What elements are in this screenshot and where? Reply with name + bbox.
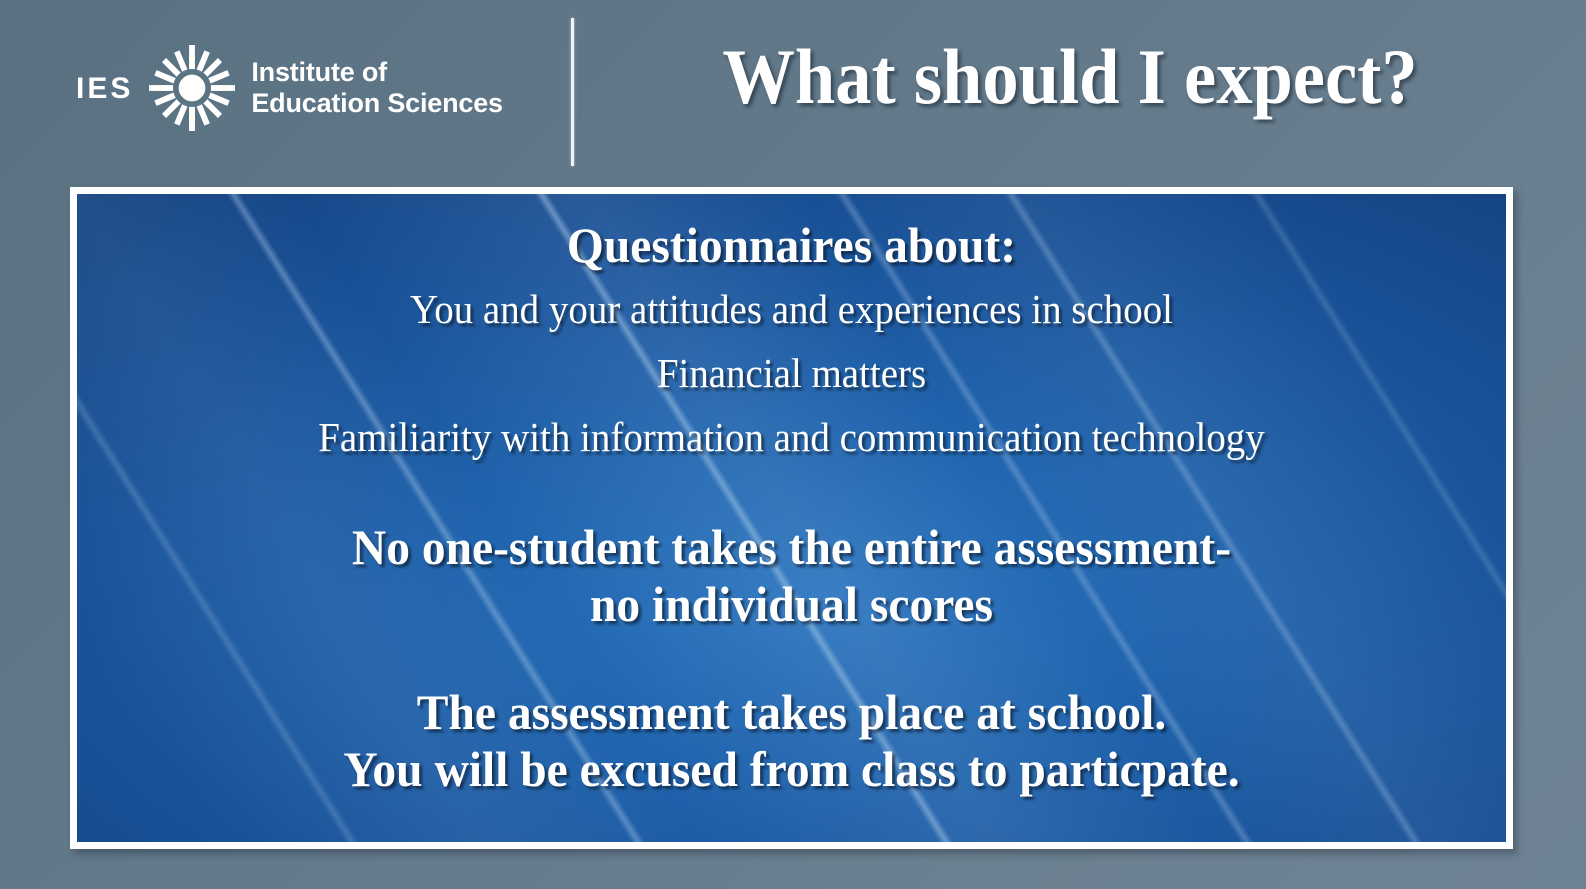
statement-no-individual-scores: No one-student takes the entire assessme…	[113, 519, 1471, 633]
topic-item: Financial matters	[113, 353, 1471, 394]
slide-header: IES	[0, 0, 1586, 185]
statement-line: You will be excused from class to partic…	[113, 741, 1471, 798]
content-panel-frame: Questionnaires about: You and your attit…	[70, 187, 1513, 849]
ies-acronym: IES	[76, 74, 133, 104]
ies-wordmark: Institute of Education Sciences	[251, 57, 503, 120]
statement-line: The assessment takes place at school.	[113, 684, 1471, 741]
page-title: What should I expect?	[652, 36, 1489, 118]
sunburst-icon	[149, 45, 235, 131]
ies-logo: IES	[76, 38, 503, 138]
ies-wordmark-line-1: Institute of	[251, 57, 503, 88]
ies-wordmark-line-2: Education Sciences	[251, 88, 503, 119]
panel-heading: Questionnaires about:	[113, 218, 1471, 273]
topic-item: Familiarity with information and communi…	[113, 417, 1471, 458]
statement-line: No one-student takes the entire assessme…	[113, 519, 1471, 576]
content-panel: Questionnaires about: You and your attit…	[77, 194, 1506, 842]
topic-item: You and your attitudes and experiences i…	[113, 289, 1471, 330]
statement-assessment-location: The assessment takes place at school. Yo…	[113, 684, 1471, 798]
slide-root: IES	[0, 0, 1586, 889]
statement-line: no individual scores	[113, 576, 1471, 633]
topic-list: You and your attitudes and experiences i…	[77, 289, 1506, 481]
content-panel-body: Questionnaires about: You and your attit…	[77, 194, 1506, 842]
header-divider	[571, 18, 574, 166]
